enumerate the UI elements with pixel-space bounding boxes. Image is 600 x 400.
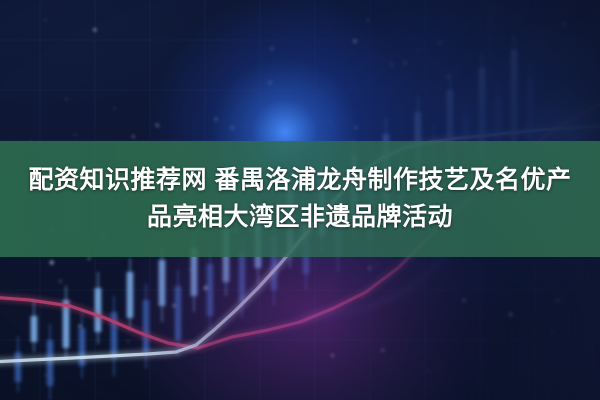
banner-image: 配资知识推荐网 番禺洛浦龙舟制作技艺及名优产 品亮相大湾区非遗品牌活动 <box>0 0 600 400</box>
title-overlay-band: 配资知识推荐网 番禺洛浦龙舟制作技艺及名优产 品亮相大湾区非遗品牌活动 <box>0 141 600 257</box>
banner-title-line-1: 配资知识推荐网 番禺洛浦龙舟制作技艺及名优产 <box>29 163 572 199</box>
banner-title-line-2: 品亮相大湾区非遗品牌活动 <box>147 200 453 236</box>
